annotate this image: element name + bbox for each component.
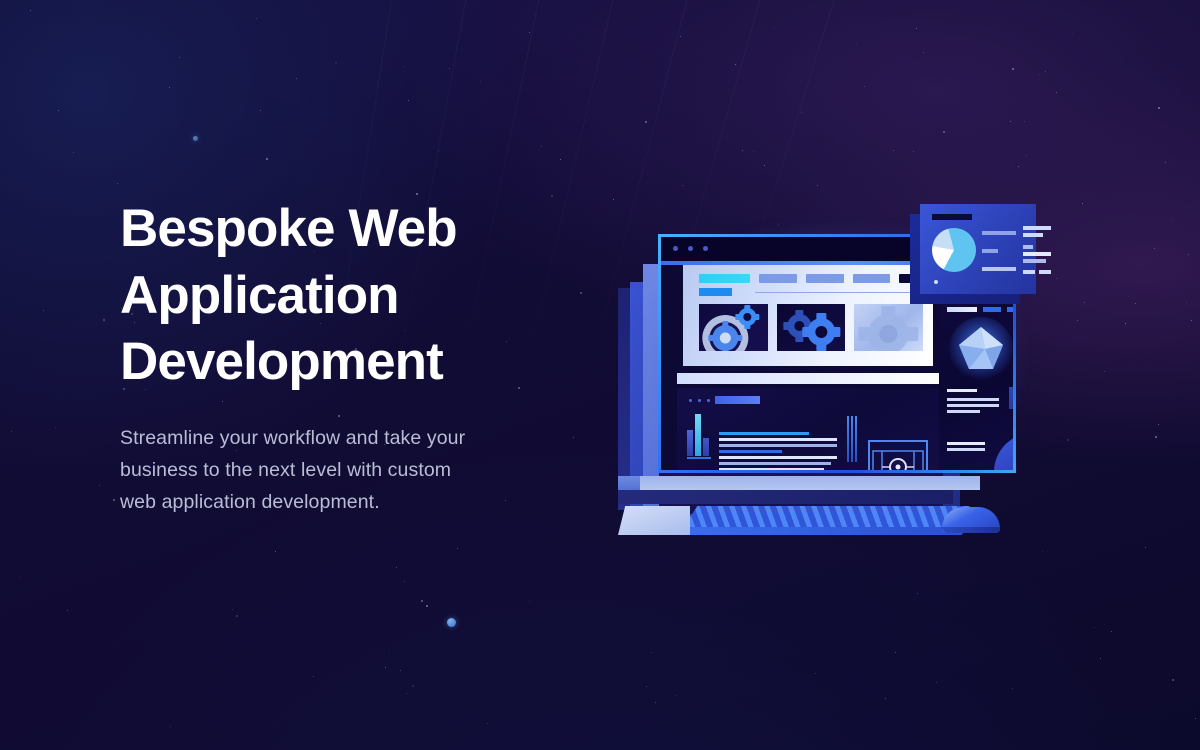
star-particle <box>923 52 924 53</box>
star-particle <box>1012 68 1014 70</box>
star-particle <box>1104 371 1105 372</box>
pie-text-line-4 <box>1023 252 1051 256</box>
sidebar-pill-2 <box>983 307 1001 312</box>
star-particle <box>457 548 458 549</box>
dashboard-panel <box>677 388 939 470</box>
panel-window-dots <box>689 399 710 402</box>
pie-chart <box>932 228 976 272</box>
star-particle <box>438 151 439 152</box>
gem-icon <box>955 323 1007 375</box>
star-particle <box>680 36 681 37</box>
star-particle <box>449 68 450 69</box>
star-particle <box>573 437 574 438</box>
star-particle <box>893 150 894 151</box>
star-particle <box>487 723 488 724</box>
star-particle <box>1155 436 1157 438</box>
star-particle <box>1094 627 1095 628</box>
star-particle <box>67 610 68 611</box>
star-particle <box>117 183 118 184</box>
page-title: Bespoke Web Application Development <box>120 196 540 396</box>
site-logo <box>699 274 750 283</box>
keyboard-left-panel <box>618 506 690 535</box>
star-particle <box>385 667 386 668</box>
pie-text-line-1 <box>1023 226 1051 230</box>
star-particle <box>260 110 261 111</box>
bar-chart-axis <box>687 457 711 459</box>
star-particle <box>170 726 171 727</box>
star-particle <box>99 485 100 486</box>
divider-line <box>755 292 921 293</box>
star-particle <box>256 18 257 19</box>
star-particle <box>936 682 937 683</box>
pie-legend-line-3 <box>982 267 1016 271</box>
pie-text-line-2 <box>1023 233 1043 237</box>
pie-card-title-bar <box>932 214 972 220</box>
star-particle <box>1125 323 1126 324</box>
star-particle <box>856 44 857 45</box>
bar-2 <box>695 414 701 456</box>
sidebar-text-line-6 <box>947 448 985 451</box>
star-particle <box>1158 107 1160 109</box>
web-page-preview <box>683 265 933 366</box>
nav-item-2[interactable] <box>806 274 844 283</box>
hero-copy: Bespoke Web Application Development Stre… <box>120 196 540 519</box>
star-particle <box>58 110 59 111</box>
star-particle <box>917 593 918 594</box>
panel-title-pill <box>715 396 760 404</box>
star-particle <box>1026 155 1027 156</box>
star-particle <box>389 649 390 650</box>
sidebar-text-line-4 <box>947 410 980 413</box>
sidebar-text-line-2 <box>947 398 999 401</box>
star-particle <box>916 28 917 29</box>
pie-text-line-7 <box>1039 270 1051 274</box>
window-controls[interactable] <box>673 246 708 251</box>
star-particle <box>1018 166 1019 167</box>
bar-chart <box>687 414 711 456</box>
star-particle <box>1165 162 1166 163</box>
star-particle <box>1172 679 1174 681</box>
sidebar-text-line-5 <box>947 442 985 445</box>
star-particle <box>753 151 754 152</box>
star-particle <box>404 581 405 582</box>
gear-card-1[interactable] <box>699 304 768 351</box>
star-particle <box>103 319 105 321</box>
site-navbar <box>699 274 925 283</box>
star-particle <box>774 27 775 28</box>
gear-card-3[interactable] <box>854 304 923 351</box>
star-particle <box>529 601 530 602</box>
nav-item-1[interactable] <box>759 274 797 283</box>
star-particle <box>55 427 56 428</box>
star-particle <box>179 57 180 58</box>
star-particle <box>396 567 397 568</box>
star-particle <box>169 87 170 88</box>
star-particle <box>560 159 561 160</box>
star-particle <box>646 686 647 687</box>
star-particle <box>296 78 297 79</box>
star-particle <box>236 615 238 617</box>
star-particle <box>864 86 865 87</box>
star-particle <box>529 32 530 33</box>
keyboard-front-edge <box>680 527 970 535</box>
star-particle <box>1154 248 1155 249</box>
pie-chart-card <box>920 204 1036 294</box>
star-particle <box>1172 219 1173 220</box>
star-particle <box>11 431 12 432</box>
star-particle <box>275 551 276 552</box>
star-particle <box>232 609 233 610</box>
star-particle <box>426 605 428 607</box>
star-particle <box>43 310 44 311</box>
star-particle <box>406 693 407 694</box>
star-particle <box>1072 33 1073 34</box>
star-particle <box>1158 424 1159 425</box>
node-diagram-icon <box>868 440 928 470</box>
accent-dot-1 <box>447 618 456 627</box>
star-particle <box>541 146 542 147</box>
star-particle <box>764 165 765 166</box>
star-particle <box>1010 121 1011 122</box>
sidebar-text-line-1 <box>947 389 977 392</box>
star-particle <box>400 670 401 671</box>
headline-line-2: Application <box>120 266 399 325</box>
star-particle <box>335 62 337 64</box>
star-particle <box>1056 92 1057 93</box>
pie-card-dot <box>934 280 938 284</box>
star-particle <box>1135 303 1136 304</box>
star-particle <box>421 600 423 602</box>
accent-dot-2 <box>193 136 198 141</box>
page-footer-strip <box>683 366 933 373</box>
monitor-stand-top <box>640 476 980 490</box>
star-particle <box>815 673 816 674</box>
pie-text-line-6 <box>1023 270 1035 274</box>
star-particle <box>1186 302 1187 303</box>
sidebar-thumbnail[interactable] <box>1009 387 1013 409</box>
bar-3 <box>703 438 709 456</box>
wireframe-node-diagram <box>868 440 928 470</box>
gear-icon <box>854 304 923 351</box>
hero-tag-pill <box>699 288 732 296</box>
star-particle <box>1082 203 1083 204</box>
gear-card-2[interactable] <box>777 304 846 351</box>
monitor-stand-left <box>618 476 640 490</box>
star-particle <box>885 698 886 699</box>
sidebar-pill-3 <box>1007 307 1013 312</box>
star-particle <box>1145 547 1146 548</box>
star-particle <box>1012 164 1013 165</box>
star-particle <box>742 150 743 151</box>
star-particle <box>1188 254 1189 255</box>
star-particle <box>1100 658 1101 659</box>
star-particle <box>403 66 404 67</box>
star-particle <box>1191 320 1192 321</box>
pie-legend-line-2 <box>982 249 998 253</box>
star-particle <box>735 64 736 65</box>
star-particle <box>943 131 945 133</box>
star-particle <box>913 151 914 152</box>
star-particle <box>416 193 418 195</box>
sidebar-text-line-3 <box>947 404 999 407</box>
page-separator-strip <box>677 373 939 384</box>
star-particle <box>551 195 553 197</box>
star-particle <box>580 292 582 294</box>
panel-vertical-rules <box>847 416 857 462</box>
star-particle <box>412 685 414 687</box>
star-particle <box>655 702 656 703</box>
star-particle <box>676 695 677 696</box>
monitor-stand-base <box>618 490 953 504</box>
star-particle <box>313 676 314 677</box>
star-particle <box>113 499 115 501</box>
headline-line-3: Development <box>120 332 443 391</box>
star-particle <box>1077 320 1078 321</box>
pie-legend-line-1 <box>982 231 1016 235</box>
star-particle <box>266 158 268 160</box>
star-particle <box>1012 688 1013 689</box>
gears-icon <box>777 304 846 351</box>
gears-icon <box>699 304 768 351</box>
pie-text-line-5 <box>1023 259 1046 263</box>
star-particle <box>1084 302 1085 303</box>
hero-subtitle: Streamline your workflow and take your b… <box>120 422 492 519</box>
star-particle <box>1111 631 1112 632</box>
nav-item-3[interactable] <box>853 274 891 283</box>
star-particle <box>801 112 802 113</box>
star-particle <box>1067 439 1069 441</box>
star-particle <box>480 81 481 82</box>
star-particle <box>895 652 896 653</box>
hero-illustration <box>612 186 1062 556</box>
star-particle <box>1024 121 1025 122</box>
star-particle <box>645 121 647 123</box>
star-particle <box>1045 71 1046 72</box>
crystal-gem-graphic <box>955 323 1007 375</box>
star-particle <box>1195 718 1196 719</box>
headline-line-1: Bespoke Web <box>120 199 457 258</box>
feature-card-row <box>699 304 923 351</box>
star-particle <box>30 10 31 11</box>
star-particle <box>1039 74 1040 75</box>
bar-1 <box>687 430 693 456</box>
star-particle <box>73 152 74 153</box>
hero-stage: Bespoke Web Application Development Stre… <box>0 0 1200 750</box>
pie-text-line-3 <box>1023 245 1033 249</box>
star-particle <box>20 577 21 578</box>
panel-text-lines <box>719 432 839 470</box>
mouse-base <box>942 527 1000 533</box>
sidebar-pill-1 <box>947 307 977 312</box>
star-particle <box>651 652 652 653</box>
star-particle <box>408 100 409 101</box>
sidebar-decorative-circle <box>994 433 1013 470</box>
